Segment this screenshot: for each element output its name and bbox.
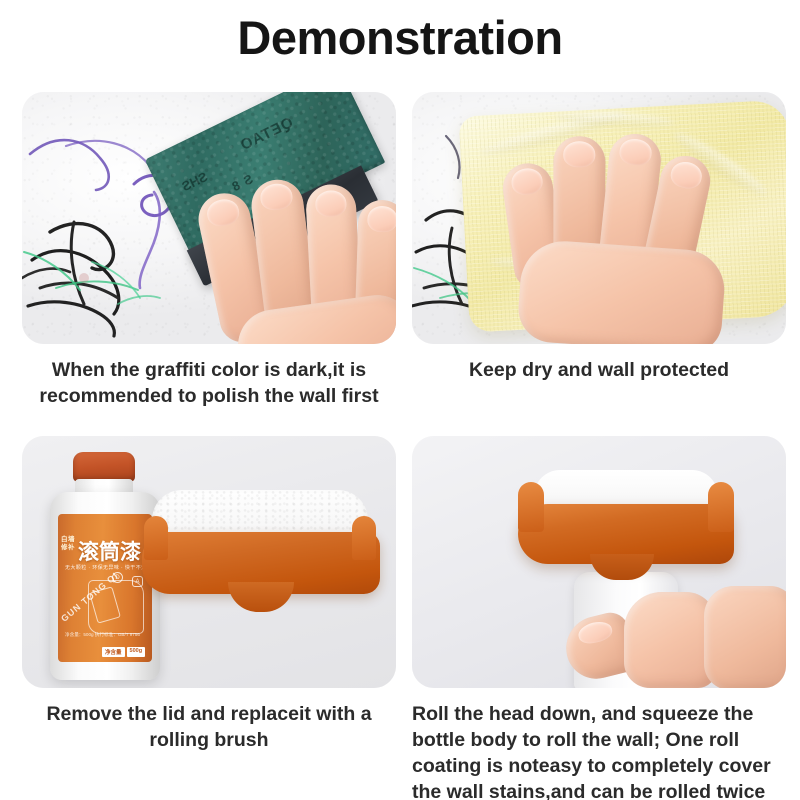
panel-replace-lid-photo: 白墙修补 滚筒漆 无大颗粒 · 环保无异味 · 快干不开裂 · 遮盖力强 GUN… xyxy=(22,436,396,688)
palm xyxy=(516,238,727,344)
demonstration-grid: QETAO S 8 SHS xyxy=(0,92,800,800)
human-hand xyxy=(500,110,765,344)
roller-side-arm-left xyxy=(518,482,544,532)
sanding-block-brand-text: QETAO xyxy=(237,114,296,154)
panel-keep-dry-photo xyxy=(412,92,786,344)
panel-roll-wall-caption: Roll the head down, and squeeze the bott… xyxy=(412,702,786,800)
panel-replace-lid-caption: Remove the lid and replaceit with a roll… xyxy=(22,702,396,754)
label-weight-value: 500g xyxy=(127,647,146,657)
demonstration-page: Demonstration xyxy=(0,0,800,800)
panel-roll-wall-photo xyxy=(412,436,786,688)
label-weight-caption: 净含量 xyxy=(102,647,125,657)
panel-polish-wall-caption: When the graffiti color is dark,it is re… xyxy=(22,358,396,410)
panel-keep-dry-caption: Keep dry and wall protected xyxy=(412,358,786,384)
label-side-text: 白墙修补 xyxy=(61,536,76,552)
fingernail xyxy=(510,166,544,196)
page-title: Demonstration xyxy=(0,14,800,61)
orange-roller-head xyxy=(518,470,734,594)
fingernail xyxy=(618,137,653,166)
roller-brush-head xyxy=(142,490,380,630)
roller-side-arm-left xyxy=(144,516,168,560)
palm xyxy=(704,586,786,688)
panel-replace-lid: 白墙修补 滚筒漆 无大颗粒 · 环保无异味 · 快干不开裂 · 遮盖力强 GUN… xyxy=(22,436,396,754)
roller-side-arm-right xyxy=(708,482,734,532)
roller-connector-stem xyxy=(228,582,294,612)
fingernail xyxy=(205,196,242,228)
label-sub-text: 无大颗粒 · 环保无异味 · 快干不开裂 · 遮盖力强 xyxy=(65,564,149,571)
label-main-text: 滚筒漆 xyxy=(78,536,141,566)
label-badge-icon: D xyxy=(112,572,123,583)
thumbnail xyxy=(576,619,614,647)
roller-connector-stem xyxy=(590,554,654,580)
fingernail xyxy=(259,182,294,212)
orange-product-label: 白墙修补 滚筒漆 无大颗粒 · 环保无异味 · 快干不开裂 · 遮盖力强 GUN… xyxy=(58,514,152,662)
fingernail xyxy=(367,206,396,233)
label-illustration xyxy=(88,580,144,634)
fingernail xyxy=(669,159,705,191)
panel-polish-wall: QETAO S 8 SHS xyxy=(22,92,396,410)
human-hand xyxy=(562,586,786,688)
label-footer-text: 净含量：500g 执行标准：GB/T 9756 xyxy=(65,632,140,639)
fingernail xyxy=(563,141,595,167)
panel-polish-wall-photo: QETAO S 8 SHS xyxy=(22,92,396,344)
orange-bottle-cap xyxy=(73,452,135,482)
human-hand xyxy=(192,162,396,344)
roller-side-arm-right xyxy=(352,516,376,560)
fingernail xyxy=(315,190,347,218)
panel-roll-wall: Roll the head down, and squeeze the bott… xyxy=(412,436,786,800)
panel-keep-dry: Keep dry and wall protected xyxy=(412,92,786,384)
knuckles xyxy=(624,592,716,688)
label-weight-tag: 净含量 500g xyxy=(102,647,145,657)
